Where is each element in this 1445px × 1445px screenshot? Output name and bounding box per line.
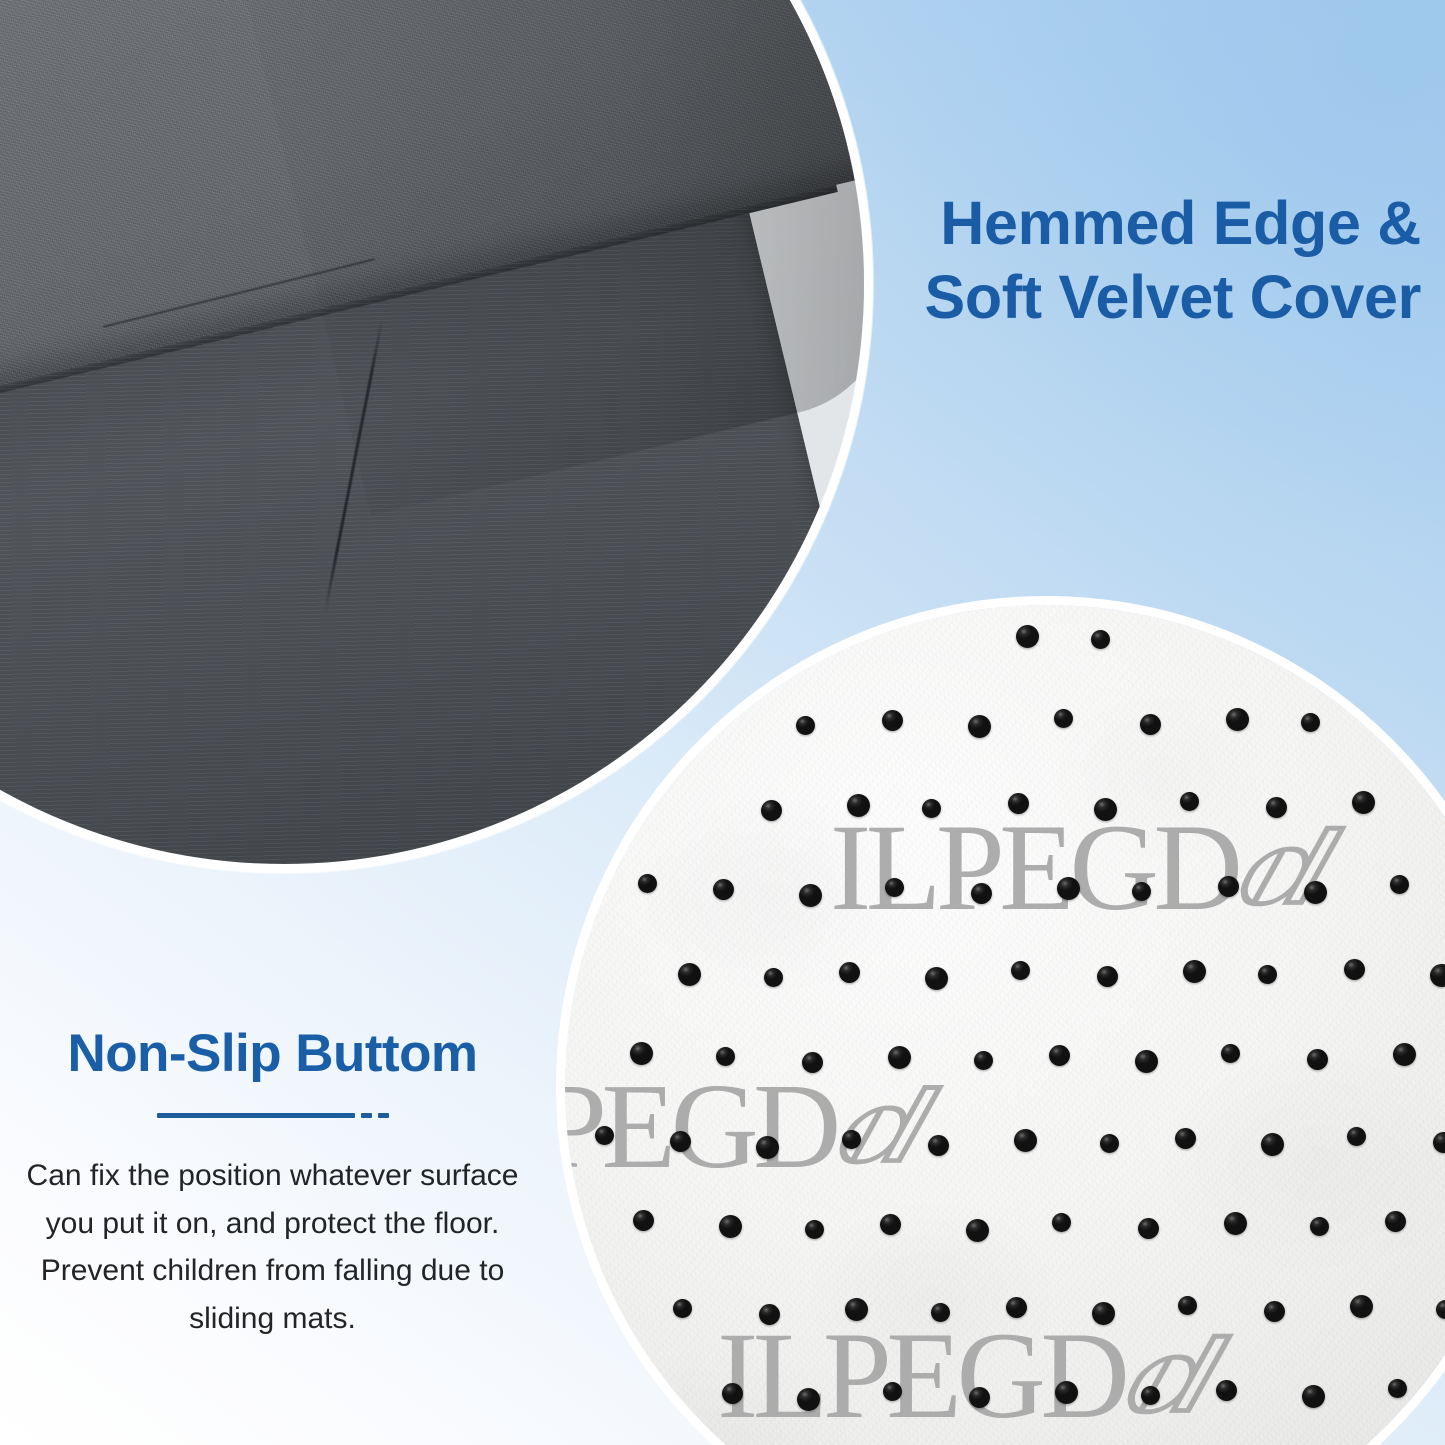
anti-slip-dot xyxy=(1307,1049,1328,1070)
anti-slip-dot xyxy=(1057,877,1080,900)
divider-line xyxy=(157,1113,355,1118)
anti-slip-dot xyxy=(842,1130,861,1149)
anti-slip-dot xyxy=(1008,793,1029,814)
anti-slip-dot xyxy=(839,962,860,983)
brand-watermark: ILPEGDⅆ xyxy=(717,1305,1181,1445)
anti-slip-dot xyxy=(1226,708,1249,731)
anti-slip-dot xyxy=(1304,881,1327,904)
anti-slip-dot xyxy=(882,710,903,731)
anti-slip-dot xyxy=(1055,1381,1078,1404)
anti-slip-dot xyxy=(1347,1127,1366,1146)
brand-watermark: ILPEGDⅆ xyxy=(830,797,1294,939)
anti-slip-dot xyxy=(796,716,815,735)
anti-slip-dot xyxy=(1091,630,1110,649)
anti-slip-dot xyxy=(673,1299,692,1318)
anti-slip-dot xyxy=(764,968,783,987)
anti-slip-dot xyxy=(974,1051,993,1070)
anti-slip-dot xyxy=(1140,714,1161,735)
anti-slip-dot xyxy=(1141,1386,1160,1405)
anti-slip-dot xyxy=(1135,1050,1158,1073)
anti-slip-dot xyxy=(1175,1128,1196,1149)
anti-slip-dot xyxy=(1138,1218,1159,1239)
anti-slip-dot xyxy=(845,1298,868,1321)
anti-slip-dot xyxy=(969,1387,990,1408)
anti-slip-dot xyxy=(1385,1211,1406,1232)
divider-dash xyxy=(361,1113,372,1118)
anti-slip-dot xyxy=(925,967,948,990)
anti-slip-dot xyxy=(880,1214,901,1235)
anti-slip-dot xyxy=(1258,965,1277,984)
feature-block: Non-Slip Buttom Can fix the position wha… xyxy=(0,1024,545,1342)
anti-slip-dot xyxy=(713,879,734,900)
anti-slip-dot xyxy=(1218,876,1239,897)
nonslip-mat-surface: ILPEGDⅆ ILPEGDⅆ ILPEGDⅆ xyxy=(565,605,1445,1445)
product-feature-image: ILPEGDⅆ ILPEGDⅆ ILPEGDⅆ Hemmed Edge & So… xyxy=(0,0,1445,1445)
non-slip-bottom-photo: ILPEGDⅆ ILPEGDⅆ ILPEGDⅆ xyxy=(556,596,1445,1445)
anti-slip-dot xyxy=(1221,1044,1240,1063)
feature-title: Non-Slip Buttom xyxy=(0,1024,545,1083)
anti-slip-dot xyxy=(1100,1134,1119,1153)
anti-slip-dot xyxy=(761,800,782,821)
anti-slip-dot xyxy=(638,874,657,893)
headline-line-1: Hemmed Edge & xyxy=(924,186,1421,260)
anti-slip-dot xyxy=(1014,1129,1037,1152)
anti-slip-dot xyxy=(1390,875,1409,894)
anti-slip-dot xyxy=(1097,966,1118,987)
anti-slip-dot xyxy=(1302,1385,1325,1408)
anti-slip-dot xyxy=(847,794,870,817)
anti-slip-dot xyxy=(1310,1217,1329,1236)
anti-slip-dot xyxy=(802,1052,823,1073)
anti-slip-dot xyxy=(968,715,991,738)
anti-slip-dot xyxy=(1049,1045,1070,1066)
anti-slip-dot xyxy=(759,1304,780,1325)
anti-slip-dot xyxy=(1301,713,1320,732)
anti-slip-dot xyxy=(805,1220,824,1239)
anti-slip-dot xyxy=(799,884,822,907)
anti-slip-dot xyxy=(1261,1133,1284,1156)
anti-slip-dot xyxy=(1344,959,1365,980)
anti-slip-dot xyxy=(670,1131,691,1152)
anti-slip-dot xyxy=(756,1136,779,1159)
anti-slip-dot xyxy=(1216,1380,1237,1401)
anti-slip-dot xyxy=(1352,791,1375,814)
anti-slip-dot xyxy=(722,1383,743,1404)
anti-slip-dot xyxy=(797,1388,820,1411)
headline: Hemmed Edge & Soft Velvet Cover xyxy=(924,186,1421,335)
anti-slip-dot xyxy=(1006,1297,1027,1318)
anti-slip-dot xyxy=(1388,1379,1407,1398)
anti-slip-dot xyxy=(633,1210,654,1231)
anti-slip-dot xyxy=(1054,709,1073,728)
anti-slip-dot xyxy=(1092,1302,1115,1325)
anti-slip-dot xyxy=(719,1215,742,1238)
anti-slip-dot xyxy=(1094,798,1117,821)
anti-slip-dot xyxy=(928,1135,949,1156)
anti-slip-dot xyxy=(716,1047,735,1066)
anti-slip-dot xyxy=(1224,1212,1247,1235)
anti-slip-dot xyxy=(1132,882,1151,901)
anti-slip-dot xyxy=(966,1219,989,1242)
anti-slip-dot xyxy=(1011,961,1030,980)
anti-slip-dot xyxy=(1016,625,1039,648)
anti-slip-dot xyxy=(922,799,941,818)
anti-slip-dot xyxy=(1264,1301,1285,1322)
anti-slip-dot xyxy=(885,878,904,897)
anti-slip-dot xyxy=(1178,1296,1197,1315)
divider-dash xyxy=(378,1113,389,1118)
anti-slip-dot xyxy=(888,1046,911,1069)
anti-slip-dot xyxy=(630,1042,653,1065)
anti-slip-dot xyxy=(971,883,992,904)
anti-slip-dot xyxy=(1180,792,1199,811)
anti-slip-dot xyxy=(1393,1043,1416,1066)
anti-slip-dot xyxy=(1183,960,1206,983)
anti-slip-dot xyxy=(678,963,701,986)
divider xyxy=(0,1113,545,1118)
anti-slip-dot xyxy=(931,1303,950,1322)
anti-slip-dot xyxy=(595,1126,614,1145)
anti-slip-dot xyxy=(883,1382,902,1401)
headline-line-2: Soft Velvet Cover xyxy=(924,260,1421,334)
anti-slip-dot xyxy=(1052,1213,1071,1232)
feature-body: Can fix the position whatever surface yo… xyxy=(0,1152,545,1342)
anti-slip-dot xyxy=(1350,1295,1373,1318)
anti-slip-dot xyxy=(1266,797,1287,818)
